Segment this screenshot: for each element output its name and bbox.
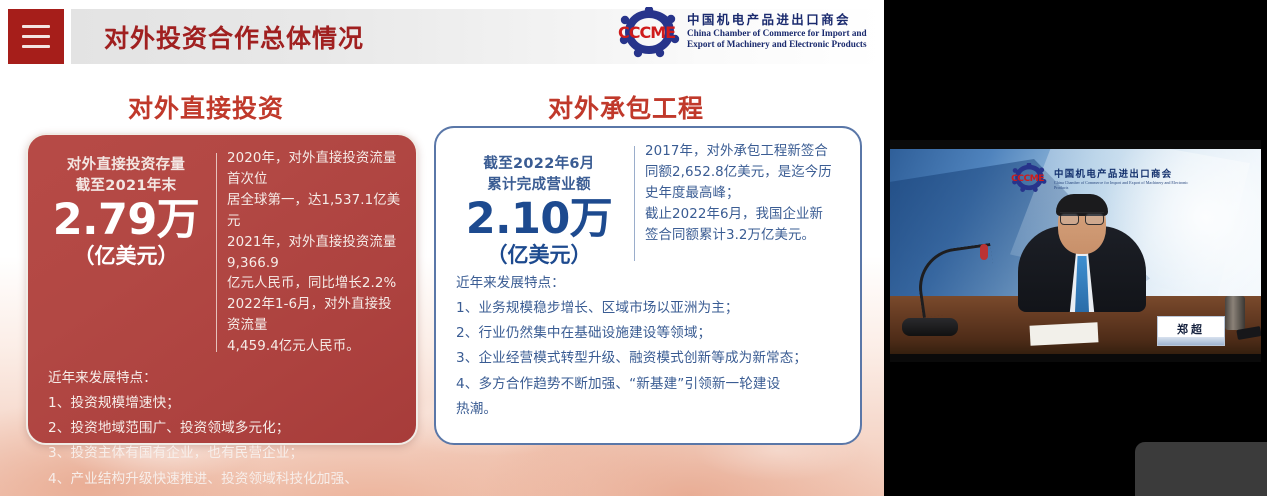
- left-stat-block: 对外直接投资存量 截至2021年末 2.79万 （亿美元）: [42, 149, 210, 358]
- left-feature-item: 4、产业结构升级快速推进、投资领域科技化加强、: [48, 467, 398, 492]
- left-note-line: 2020年，对外直接投资流量首次位: [227, 149, 402, 191]
- hamburger-bar-3: [22, 45, 50, 48]
- left-note-line: 4,459.4亿元人民币。: [227, 337, 402, 358]
- cccme-logo-text: 中国机电产品进出口商会 China Chamber of Commerce fo…: [687, 7, 870, 50]
- right-stat-label-1: 截至2022年6月: [450, 154, 628, 175]
- section-title-outbound-investment: 对外直接投资: [128, 89, 284, 125]
- card-outbound-direct-investment: 对外直接投资存量 截至2021年末 2.79万 （亿美元） 2020年，对外直接…: [26, 133, 418, 445]
- left-note-line: 2021年，对外直接投资流量9,366.9: [227, 233, 402, 275]
- backdrop-cccme-name-cn: 中国机电产品进出口商会: [1054, 166, 1190, 180]
- right-note-line: 截止2022年6月，我国企业新: [645, 205, 846, 226]
- desk-cup: [1225, 296, 1245, 330]
- left-feature-item: 3、投资主体有国有企业，也有民营企业；: [48, 441, 398, 466]
- cccme-emblem-icon: CCCME: [616, 7, 682, 59]
- hamburger-icon[interactable]: [8, 9, 64, 64]
- right-features: 近年来发展特点： 1、业务规模稳步增长、区域市场以亚洲为主； 2、行业仍然集中在…: [436, 267, 860, 422]
- left-feature-item: 投资经济一体化深入发展。: [48, 492, 398, 496]
- hamburger-bar-2: [22, 35, 50, 38]
- right-feature-item: 4、多方合作趋势不断加强、“新基建”引领新一轮建设: [456, 372, 842, 397]
- right-feature-item: 3、企业经营模式转型升级、融资模式创新等成为新常态；: [456, 346, 842, 371]
- video-feed[interactable]: CCCME 中国机电产品进出口商会 China Chamber of Comme…: [890, 140, 1261, 362]
- speaker-nameplate: 郑超: [1157, 316, 1225, 346]
- left-features-heading: 近年来发展特点：: [48, 366, 398, 391]
- corner-overlay-panel[interactable]: [1135, 442, 1267, 496]
- cccme-logo-mark: CCCME: [616, 7, 682, 59]
- microphone-icon: [902, 248, 992, 336]
- right-feature-item: 1、业务规模稳步增长、区域市场以亚洲为主；: [456, 296, 842, 321]
- speaker-glasses: [1060, 212, 1104, 224]
- left-stat-value: 2.79万: [42, 198, 210, 243]
- microphone-base: [902, 318, 958, 336]
- right-stat-label-2: 累计完成营业额: [450, 175, 628, 196]
- left-note-line: 居全球第一，达1,537.1亿美元: [227, 191, 402, 233]
- left-card-divider: [216, 153, 217, 352]
- left-stat-label-2: 截至2021年末: [42, 176, 210, 197]
- video-panel[interactable]: CCCME 中国机电产品进出口商会 China Chamber of Comme…: [884, 0, 1267, 496]
- slide-header: 对外投资合作总体情况 CCCME: [0, 0, 884, 70]
- speaker-figure: [1018, 180, 1146, 312]
- presentation-slide: 对外投资合作总体情况 CCCME: [0, 0, 884, 496]
- right-stat-value: 2.10万: [450, 197, 628, 242]
- video-scene: CCCME 中国机电产品进出口商会 China Chamber of Comme…: [890, 149, 1261, 354]
- right-stat-unit: （亿美元）: [450, 243, 628, 267]
- right-notes-list: 2017年，对外承包工程新签合 同额2,652.8亿美元，是迄今历 史年度最高峰…: [645, 142, 846, 267]
- cccme-name-cn: 中国机电产品进出口商会: [687, 9, 870, 28]
- left-note-line: 2022年1-6月，对外直接投资流量: [227, 295, 402, 337]
- right-note-line: 签合同额累计3.2万亿美元。: [645, 226, 846, 247]
- hamburger-bar-1: [22, 25, 50, 28]
- card-contracted-projects: 截至2022年6月 累计完成营业额 2.10万 （亿美元） 2017年，对外承包…: [434, 126, 862, 445]
- left-stat-label-1: 对外直接投资存量: [42, 155, 210, 176]
- section-title-contracted-projects: 对外承包工程: [548, 89, 704, 125]
- speaker-name: 郑超: [1177, 321, 1205, 337]
- card-right-top: 截至2022年6月 累计完成营业额 2.10万 （亿美元） 2017年，对外承包…: [436, 128, 860, 267]
- left-stat-unit: （亿美元）: [42, 244, 210, 268]
- left-features: 近年来发展特点： 1、投资规模增速快； 2、投资地域范围广、投资领域多元化； 3…: [28, 358, 416, 496]
- right-feature-item: 热潮。: [456, 397, 842, 422]
- cccme-logo: CCCME 中国机电产品进出口商会 China Chamber of Comme…: [616, 7, 870, 59]
- desk-papers: [1030, 322, 1099, 346]
- svg-text:CCCME: CCCME: [618, 23, 675, 42]
- cccme-name-en: China Chamber of Commerce for Import and…: [687, 28, 870, 50]
- right-features-heading: 近年来发展特点：: [456, 271, 842, 296]
- left-note-line: 亿元人民币，同比增长2.2%: [227, 274, 402, 295]
- card-left-top: 对外直接投资存量 截至2021年末 2.79万 （亿美元） 2020年，对外直接…: [28, 135, 416, 358]
- right-note-line: 2017年，对外承包工程新签合: [645, 142, 846, 163]
- right-card-divider: [634, 146, 635, 261]
- screen: 对外投资合作总体情况 CCCME: [0, 0, 1267, 496]
- right-note-line: 史年度最高峰；: [645, 184, 846, 205]
- right-note-line: 同额2,652.8亿美元，是迄今历: [645, 163, 846, 184]
- right-feature-item: 2、行业仍然集中在基础设施建设等领域；: [456, 321, 842, 346]
- left-feature-item: 2、投资地域范围广、投资领域多元化；: [48, 416, 398, 441]
- left-notes-list: 2020年，对外直接投资流量首次位 居全球第一，达1,537.1亿美元 2021…: [227, 149, 402, 358]
- microphone-tip: [980, 244, 988, 260]
- right-stat-block: 截至2022年6月 累计完成营业额 2.10万 （亿美元）: [450, 142, 628, 267]
- left-feature-item: 1、投资规模增速快；: [48, 391, 398, 416]
- page-title: 对外投资合作总体情况: [104, 19, 364, 55]
